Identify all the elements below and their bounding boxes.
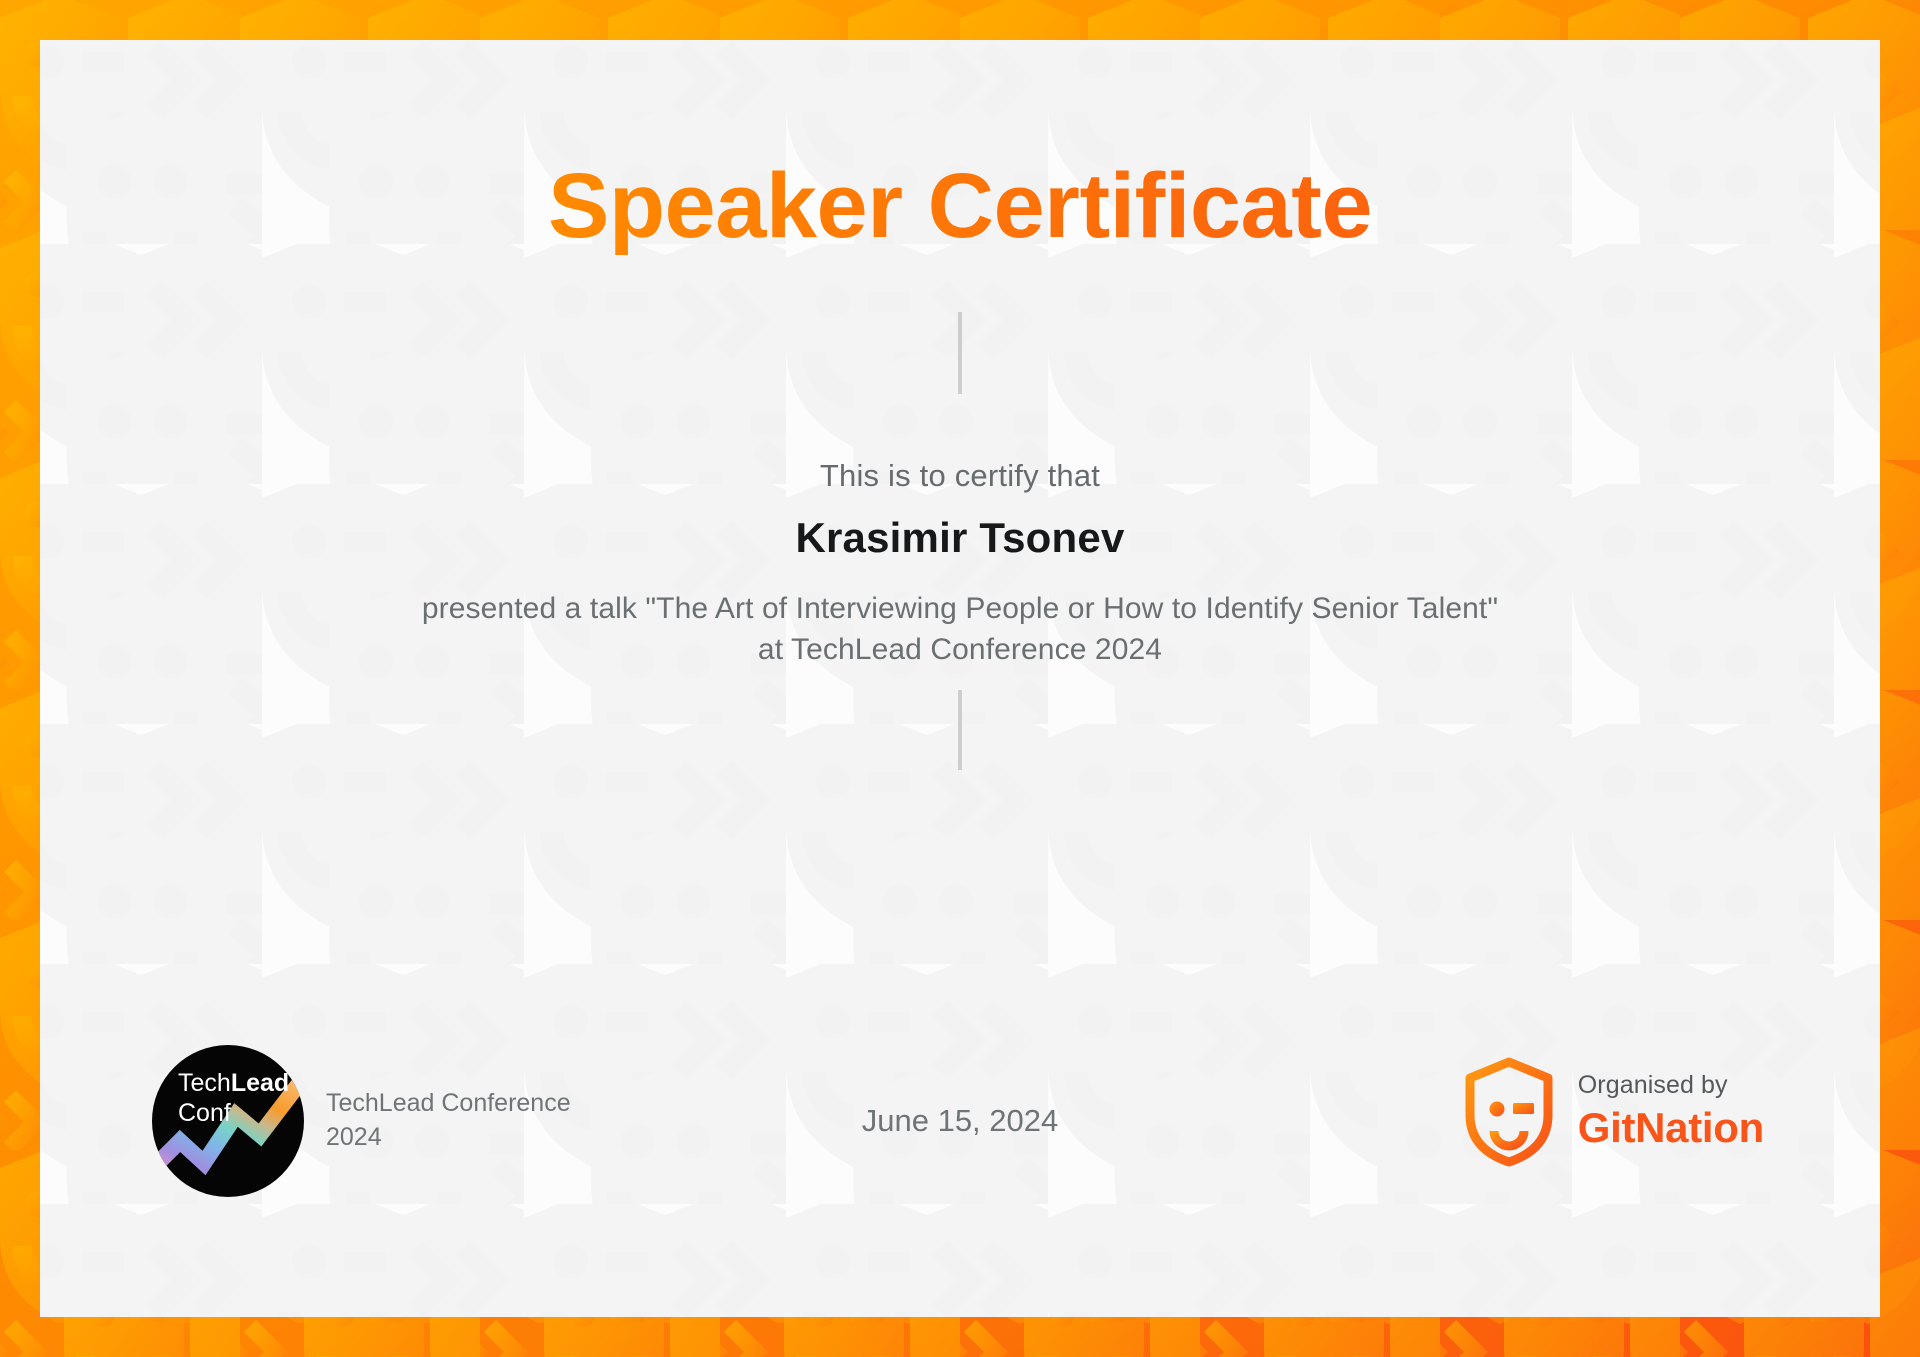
svg-text:TechLead: TechLead <box>178 1069 289 1097</box>
talk-description: presented a talk "The Art of Interviewin… <box>40 588 1880 671</box>
organiser-block: Organised by GitNation <box>1462 1057 1764 1167</box>
issue-date: June 15, 2024 <box>862 1103 1059 1139</box>
event-block: TechLead Conf TechLead Conference 2024 <box>152 1045 571 1197</box>
divider-top <box>958 312 962 394</box>
recipient-name: Krasimir Tsonev <box>40 514 1880 562</box>
techlead-conf-logo-icon: TechLead Conf <box>152 1045 304 1197</box>
svg-text:Conf: Conf <box>178 1099 231 1127</box>
page-title: Speaker Certificate <box>40 158 1880 255</box>
talk-line-1: presented a talk "The Art of Interviewin… <box>422 592 1498 625</box>
organiser-text: Organised by GitNation <box>1578 1071 1764 1152</box>
event-name: TechLead Conference 2024 <box>326 1087 571 1155</box>
talk-line-2: at TechLead Conference 2024 <box>758 633 1162 666</box>
event-name-line-1: TechLead Conference <box>326 1089 571 1117</box>
divider-bottom <box>958 690 962 770</box>
organiser-name: GitNation <box>1578 1103 1764 1153</box>
certify-line: This is to certify that <box>40 458 1880 494</box>
event-name-line-2: 2024 <box>326 1123 382 1151</box>
organised-by-label: Organised by <box>1578 1071 1764 1101</box>
gitnation-shield-icon <box>1462 1057 1556 1167</box>
certificate-footer: TechLead Conf TechLead Conference 2024 J… <box>40 997 1880 1317</box>
certificate: Speaker Certificate This is to certify t… <box>0 0 1920 1357</box>
certificate-card: Speaker Certificate This is to certify t… <box>40 40 1880 1317</box>
certificate-body: This is to certify that Krasimir Tsonev … <box>40 458 1880 671</box>
